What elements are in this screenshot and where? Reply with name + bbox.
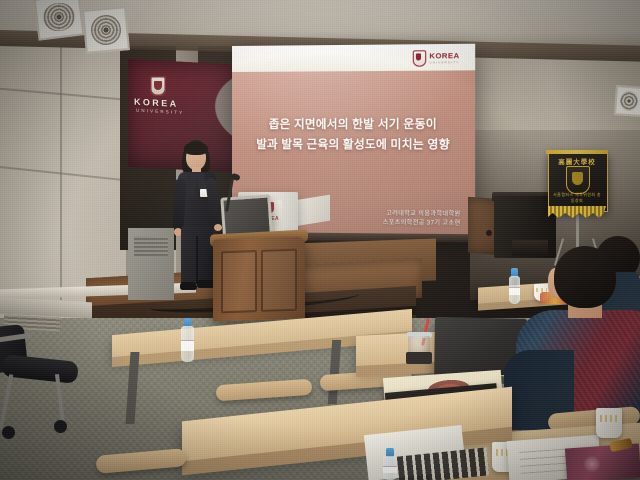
paper-cup <box>596 408 622 438</box>
presenter-hair-front <box>184 142 208 155</box>
slide-title-line-2: 발과 발목 근육의 활성도에 미치는 영향 <box>232 136 475 156</box>
presenter-shoe <box>180 282 197 290</box>
magazine-graphic <box>584 456 600 472</box>
screen-top-band: KOREA UNIVERSITY <box>232 44 475 72</box>
bottle-body <box>509 276 520 304</box>
water-bottle <box>383 448 397 480</box>
trouser-seam <box>196 236 198 284</box>
pennant-hanja-text: 高麗大學校 <box>552 156 602 166</box>
university-crest-icon <box>413 50 426 66</box>
chair-leg <box>0 374 13 430</box>
pennant-sub-text: 서울캠퍼스 체육위원회 총동창회 <box>552 192 602 204</box>
podium-panel <box>261 249 297 312</box>
seated-attendee <box>520 246 640 430</box>
wall-speaker-icon <box>614 85 640 117</box>
bottle-label <box>509 287 520 295</box>
slide-subtitle: 고려대학교 의용과학대학원 스포츠의학전공 37기 고소현 <box>383 210 461 230</box>
presenter-hand <box>214 224 222 231</box>
chair-caster-icon <box>2 426 15 439</box>
ceiling-speaker-icon <box>34 0 85 41</box>
bottle-body <box>181 326 194 362</box>
podium <box>213 236 305 321</box>
pennant-crest-icon <box>566 166 590 194</box>
bottle-body <box>383 456 397 480</box>
lecture-hall-photo: KOREA UNIVERSITY 고 KOREA UNIVERSITY 좁은 지… <box>0 0 640 480</box>
pennant-top-bar <box>546 150 608 154</box>
logo-sub-text: UNIVERSITY <box>429 61 459 64</box>
podium-panel <box>221 250 257 313</box>
ceiling-speaker-icon <box>82 6 130 54</box>
panel-knob-icon <box>486 230 492 236</box>
bottle-label <box>383 466 397 473</box>
bottle-label <box>181 340 194 350</box>
magazine <box>565 443 640 480</box>
korea-university-logo: KOREA UNIVERSITY <box>413 50 469 67</box>
slide-title-line-1: 좁은 지면에서의 한발 서기 운동이 <box>232 115 475 135</box>
water-bottle <box>509 268 520 304</box>
slide-subtitle-line-2: 스포츠의학전공 37기 고소현 <box>383 220 461 230</box>
slide-subtitle-line-1: 고려대학교 의용과학대학원 <box>383 210 461 220</box>
office-chair <box>0 330 86 440</box>
logo-main-text: KOREA <box>429 52 459 60</box>
attendee-head <box>554 246 616 308</box>
water-bottle <box>181 318 194 362</box>
chair-caster-icon <box>54 420 67 433</box>
cabinet-vent-icon <box>134 236 168 256</box>
university-crest-icon <box>150 76 166 96</box>
cup-holder <box>406 352 432 364</box>
slide-title: 좁은 지면에서의 한발 서기 운동이 발과 발목 근육의 활성도에 미치는 영향 <box>232 115 475 155</box>
chair-seat <box>1 354 79 384</box>
